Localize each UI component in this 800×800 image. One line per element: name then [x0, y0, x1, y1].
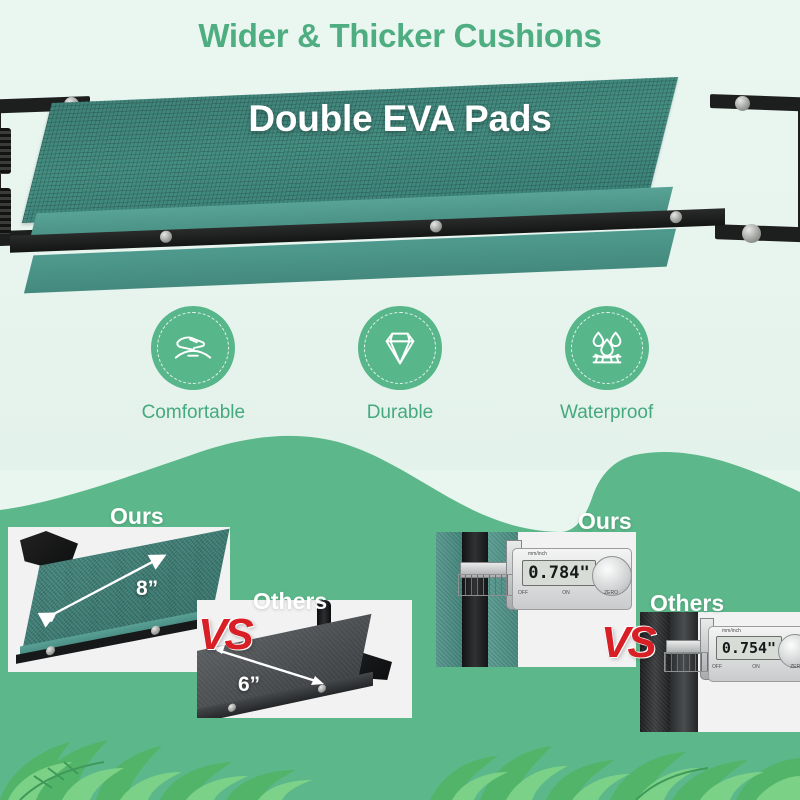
caliper-off-button[interactable]: OFF	[712, 664, 722, 670]
feature-label: Waterproof	[532, 402, 682, 424]
ours-width-value: 8”	[136, 577, 158, 601]
ours-label-thickness: Ours	[578, 508, 632, 535]
caliper-off-button[interactable]: OFF	[518, 590, 528, 596]
caliper-display: 0.784"	[522, 560, 596, 586]
feature-waterproof: Waterproof	[532, 306, 682, 424]
caliper-mode-label: mm/inch	[722, 628, 741, 634]
hero-title: Double EVA Pads	[0, 98, 800, 140]
screw-icon	[430, 220, 442, 232]
diamond-icon	[358, 306, 442, 390]
hand-cushion-icon	[151, 306, 235, 390]
caliper-zero-button[interactable]: ZERO	[790, 664, 800, 670]
feature-label: Durable	[325, 402, 475, 424]
ours-label-width: Ours	[110, 503, 164, 530]
caliper-display: 0.754"	[716, 636, 782, 660]
product-hero-image: Double EVA Pads	[0, 70, 800, 305]
vs-badge-width: VS	[198, 610, 251, 660]
caliper-on-button[interactable]: ON	[752, 664, 760, 670]
page-title: Wider & Thicker Cushions	[0, 17, 800, 55]
top-promo-section: Wider & Thicker Cushions	[0, 0, 800, 470]
screw-icon	[160, 231, 172, 243]
vs-badge-thickness: VS	[601, 618, 654, 668]
green-pad-strip	[436, 532, 462, 667]
water-drops-icon	[565, 306, 649, 390]
feature-label: Comfortable	[118, 402, 268, 424]
caliper-buttons: OFF ON ZERO	[518, 590, 618, 596]
others-width-value: 6”	[238, 673, 260, 697]
feature-durable: Durable	[325, 306, 475, 424]
others-label-width: Others	[253, 588, 327, 615]
feature-comfortable: Comfortable	[118, 306, 268, 424]
feature-list: Comfortable Durable	[0, 306, 800, 451]
screw-icon	[670, 211, 682, 223]
caliper-on-button[interactable]: ON	[562, 590, 570, 596]
others-thickness-value: 0.754"	[722, 639, 776, 657]
rivet-icon	[742, 224, 761, 243]
dark-frame-strip	[462, 532, 488, 667]
others-label-thickness: Others	[650, 590, 724, 617]
caliper-zero-button[interactable]: ZERO	[604, 590, 618, 596]
caliper-buttons: OFF ON ZERO	[712, 664, 800, 670]
caliper-mode-label: mm/inch	[528, 551, 547, 557]
ours-thickness-value: 0.784"	[528, 563, 589, 583]
